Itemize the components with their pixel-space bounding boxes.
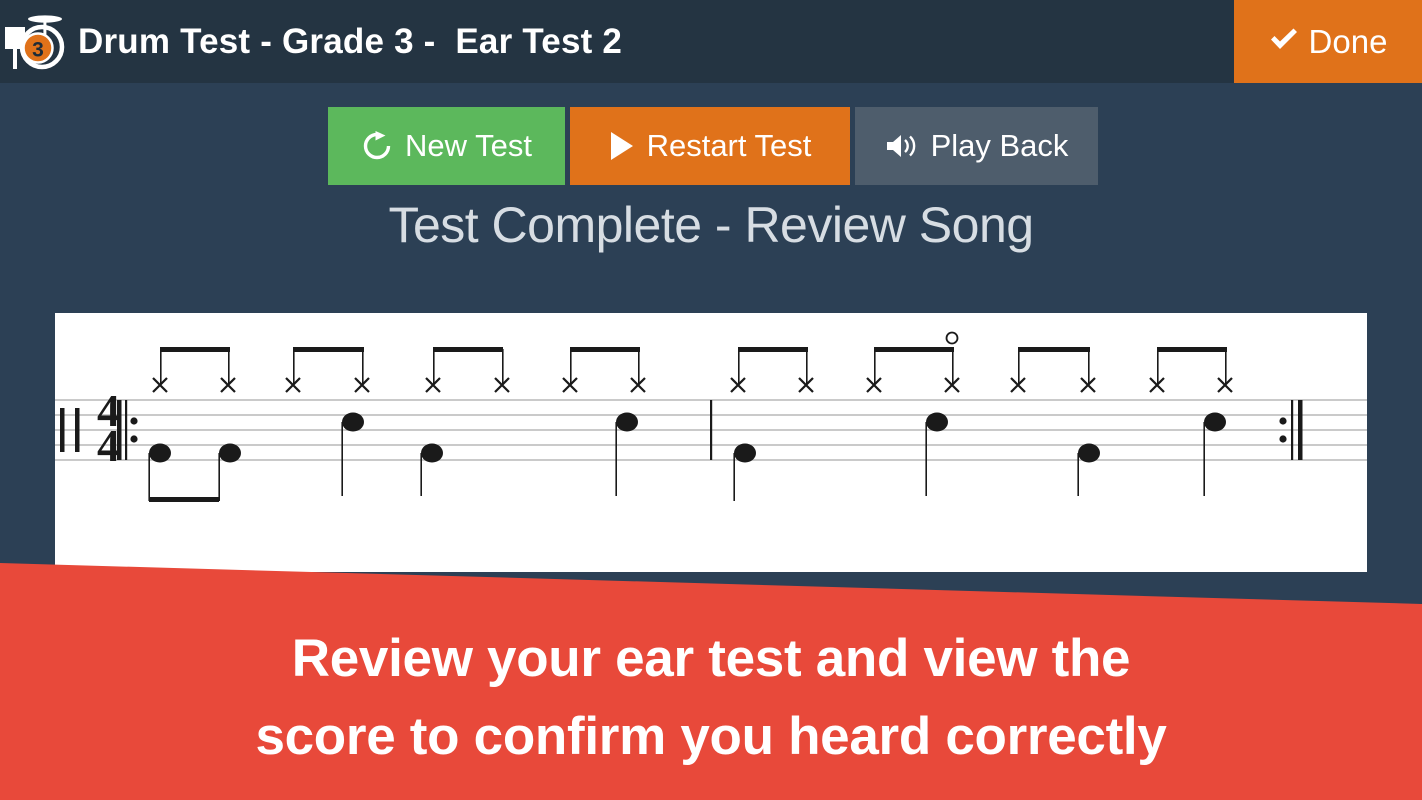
kick-notes [734, 444, 1100, 502]
snare-notes [342, 413, 638, 497]
restart-test-label: Restart Test [647, 128, 812, 164]
done-button[interactable]: Done [1234, 0, 1422, 83]
middle-barline [710, 400, 712, 460]
page-title: Drum Test - Grade 3 - Ear Test 2 [78, 22, 622, 62]
instruction-banner: Review your ear test and view the score … [0, 556, 1422, 800]
check-icon [1269, 27, 1299, 57]
drum-kit-icon: 3 [0, 0, 72, 83]
measure-1 [149, 347, 645, 502]
logo-grade-badge: 3 [32, 38, 44, 61]
kick-beam [149, 497, 219, 502]
hihat-beams [160, 347, 640, 352]
score-card: 4 4 [55, 313, 1367, 572]
instruction-line-2: score to confirm you heard correctly [0, 698, 1422, 776]
done-label: Done [1309, 23, 1388, 61]
hihat-beams [738, 347, 1227, 352]
kick-notes [149, 444, 443, 503]
toolbar: New Test Restart Test Play Back [328, 107, 1098, 185]
refresh-icon [361, 130, 393, 162]
measure-2 [731, 333, 1232, 502]
snare-notes [926, 413, 1226, 497]
play-back-button[interactable]: Play Back [855, 107, 1098, 185]
instruction-line-1: Review your ear test and view the [0, 620, 1422, 698]
status-heading: Test Complete - Review Song [0, 196, 1422, 254]
instruction-text: Review your ear test and view the score … [0, 620, 1422, 776]
new-test-label: New Test [405, 128, 532, 164]
speaker-icon [885, 132, 919, 160]
time-signature-bottom: 4 [97, 420, 120, 471]
play-back-label: Play Back [931, 128, 1069, 164]
new-test-button[interactable]: New Test [328, 107, 565, 185]
restart-test-button[interactable]: Restart Test [570, 107, 850, 185]
app-header: 3 Drum Test - Grade 3 - Ear Test 2 Done [0, 0, 1422, 83]
drum-notation: 4 4 [55, 313, 1367, 572]
play-icon [609, 131, 635, 161]
open-hihat-icon [947, 333, 958, 344]
